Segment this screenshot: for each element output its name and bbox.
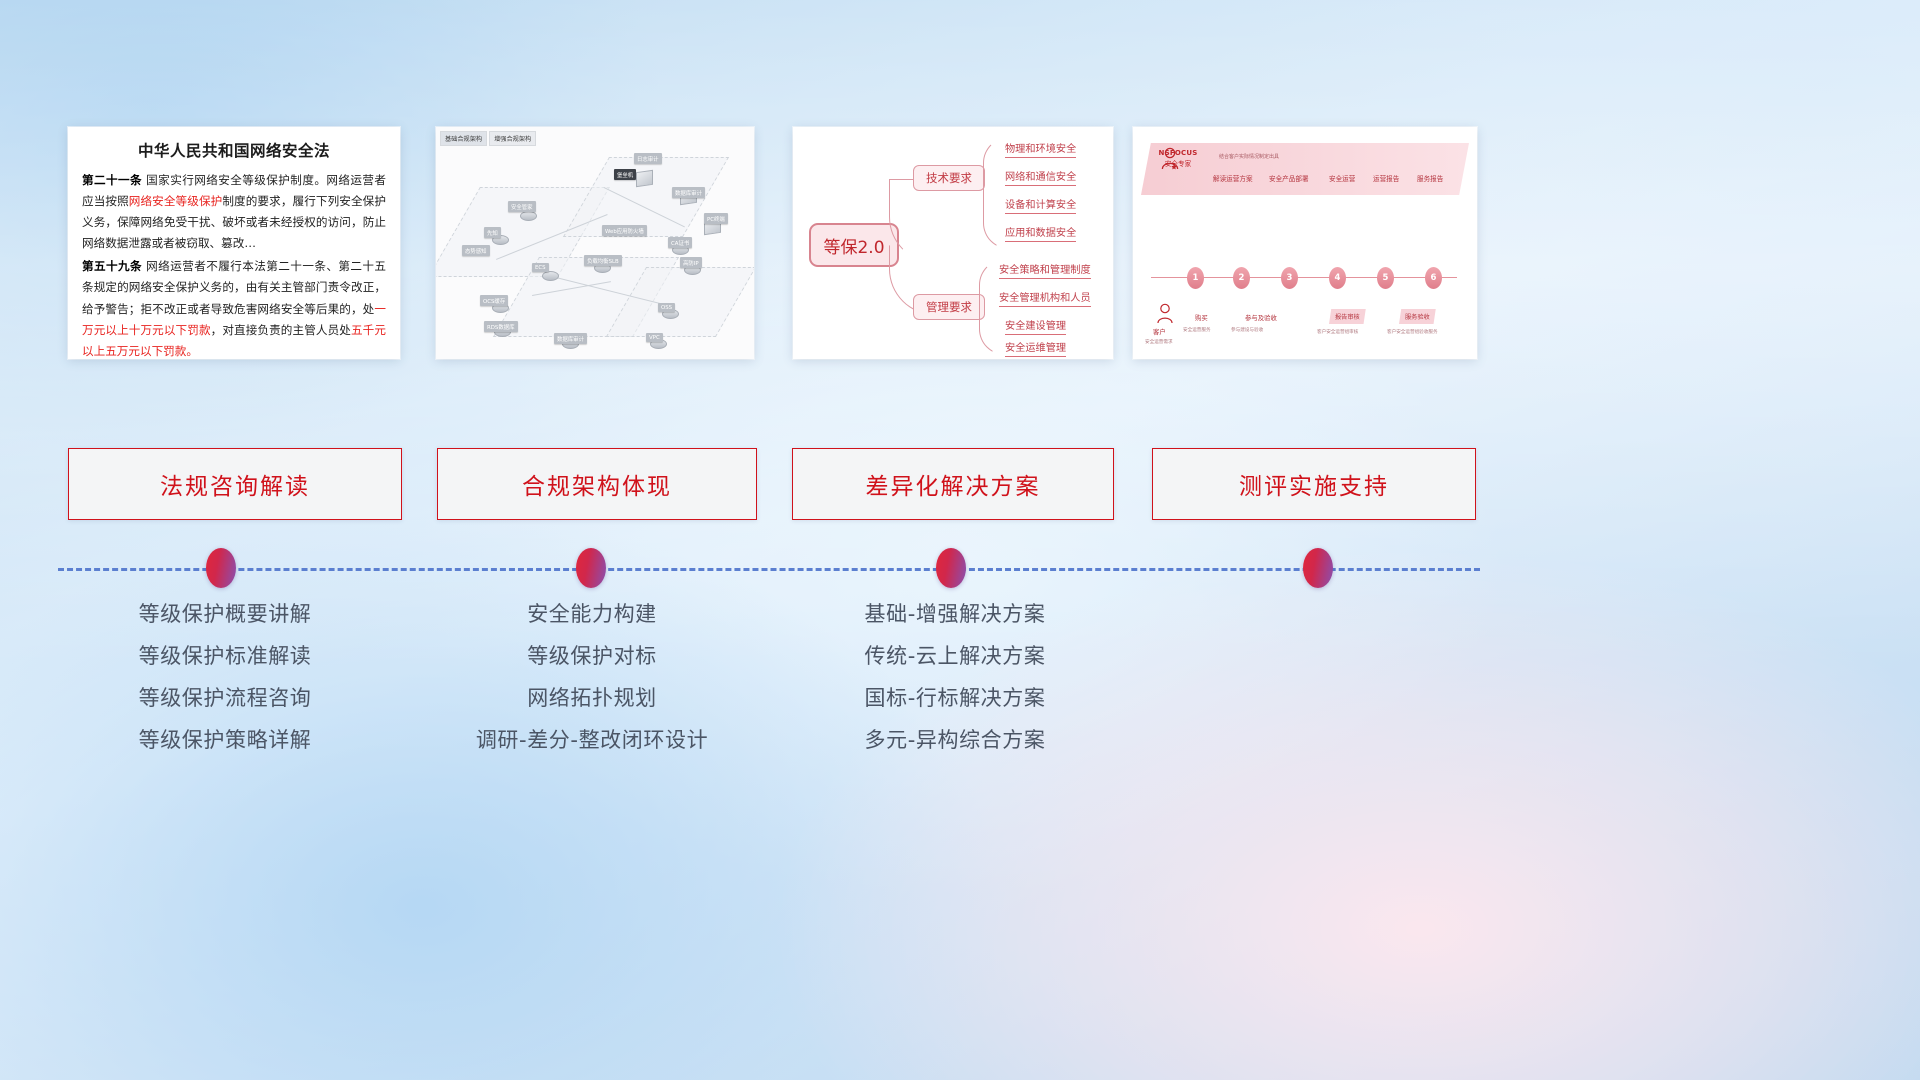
pillar-regulation-consulting[interactable]: 法规咨询解读 bbox=[68, 448, 402, 520]
timeline-node-2[interactable] bbox=[576, 548, 606, 588]
timeline-step: 6 bbox=[1425, 267, 1442, 289]
list-item: 等级保护策略详解 bbox=[58, 730, 392, 751]
mindmap-leaf: 安全建设管理 bbox=[1005, 317, 1066, 335]
card-compliance-architecture[interactable]: 基础合规架构 增强合规架构 bbox=[436, 127, 754, 359]
customer-sublabel: 安全运营需求 bbox=[1145, 339, 1173, 345]
card-mindmap-dengbao[interactable]: 等保2.0 技术要求 管理要求 物理和环境安全 网络和通信安全 设备和计算安全 … bbox=[793, 127, 1113, 359]
timeline-node-4[interactable] bbox=[1303, 548, 1333, 588]
timeline-step: 4 bbox=[1329, 267, 1346, 289]
article-21-highlight: 网络安全等级保护 bbox=[129, 194, 223, 208]
law-article-21: 第二十一条 国家实行网络安全等级保护制度。网络运营者应当按照网络安全等级保护制度… bbox=[82, 170, 386, 254]
expert-subtitle: 安全专家 bbox=[1155, 158, 1201, 168]
pillar-label: 法规咨询解读 bbox=[160, 467, 310, 501]
pillar-label: 测评实施支持 bbox=[1239, 467, 1389, 501]
timeline-caption: 运营报告 bbox=[1373, 173, 1399, 183]
connector-timeline bbox=[0, 548, 1920, 594]
mindmap-root-node: 等保2.0 bbox=[809, 223, 899, 267]
list-item: 等级保护概要讲解 bbox=[58, 604, 392, 625]
list-item: 传统-云上解决方案 bbox=[790, 646, 1120, 667]
timeline-caption: 服务报告 bbox=[1417, 173, 1443, 183]
tab-basic-architecture[interactable]: 基础合规架构 bbox=[440, 131, 487, 146]
architecture-node: PC终端 bbox=[704, 213, 728, 224]
architecture-node: 安全管家 bbox=[508, 201, 536, 212]
pillar-compliance-architecture[interactable]: 合规架构体现 bbox=[437, 448, 757, 520]
law-article-59: 第五十九条 网络运营者不履行本法第二十一条、第二十五条规定的网络安全保护义务的，… bbox=[82, 256, 386, 359]
mindmap-leaf: 网络和通信安全 bbox=[1005, 168, 1076, 186]
architecture-node: 负载均衡SLB bbox=[584, 255, 622, 266]
architecture-node: RDS数据库 bbox=[484, 321, 518, 332]
timeline-step: 5 bbox=[1377, 267, 1394, 289]
list-item: 多元-异构综合方案 bbox=[790, 730, 1120, 751]
architecture-node: 先知 bbox=[484, 227, 501, 238]
mindmap-branch-technical: 技术要求 bbox=[913, 165, 985, 191]
architecture-node: OCS缓存 bbox=[480, 295, 508, 306]
mindmap-leaf: 安全运维管理 bbox=[1005, 339, 1066, 357]
pillar-label: 合规架构体现 bbox=[522, 467, 672, 501]
cards-row: 中华人民共和国网络安全法 第二十一条 国家实行网络安全等级保护制度。网络运营者应… bbox=[0, 127, 1920, 359]
list-item: 调研-差分-整改闭环设计 bbox=[420, 730, 764, 751]
architecture-node: 日志审计 bbox=[634, 153, 662, 164]
pillar-differentiated-solution[interactable]: 差异化解决方案 bbox=[792, 448, 1114, 520]
architecture-node: Web应用防火墙 bbox=[602, 225, 647, 236]
timeline-caption: 安全产品部署 bbox=[1269, 173, 1309, 183]
architecture-node: ECS bbox=[532, 263, 549, 272]
list-item: 等级保护标准解读 bbox=[58, 646, 392, 667]
mindmap-leaf: 安全管理机构和人员 bbox=[999, 289, 1091, 307]
service-timeline: NSFOCUS 安全专家 结合客户实际情况制定出具 解读运营方案 安全产品部署 … bbox=[1133, 127, 1477, 359]
footer-item-sub: 参与建设与验收 bbox=[1231, 327, 1263, 333]
mindmap-leaf: 应用和数据安全 bbox=[1005, 224, 1076, 242]
mindmap-branch-management: 管理要求 bbox=[913, 294, 985, 320]
architecture-tabs[interactable]: 基础合规架构 增强合规架构 bbox=[440, 131, 536, 146]
footer-tag: 服务验收 bbox=[1399, 309, 1436, 324]
terminal-icon bbox=[636, 170, 653, 187]
timeline-step: 2 bbox=[1233, 267, 1250, 289]
detail-list-regulation: 等级保护概要讲解 等级保护标准解读 等级保护流程咨询 等级保护策略详解 bbox=[58, 604, 392, 772]
mindmap-leaf: 物理和环境安全 bbox=[1005, 140, 1076, 158]
mindmap-leaf: 设备和计算安全 bbox=[1005, 196, 1076, 214]
architecture-node: OSS bbox=[658, 303, 675, 312]
article-59-mid: ，对直接负责的主管人员处 bbox=[211, 323, 351, 337]
article-21-label: 第二十一条 bbox=[82, 173, 142, 187]
list-item: 国标-行标解决方案 bbox=[790, 688, 1120, 709]
detail-list-solution: 基础-增强解决方案 传统-云上解决方案 国标-行标解决方案 多元-异构综合方案 bbox=[790, 604, 1120, 772]
timeline-caption: 安全运营 bbox=[1329, 173, 1355, 183]
pillar-label: 差异化解决方案 bbox=[866, 467, 1041, 501]
expert-badge: NSFOCUS 安全专家 bbox=[1155, 149, 1201, 168]
timeline-step: 1 bbox=[1187, 267, 1204, 289]
mindmap-curve bbox=[983, 137, 1009, 249]
architecture-node: 堡垒机 bbox=[614, 169, 636, 180]
customer-label: 客户 bbox=[1153, 327, 1166, 336]
law-title: 中华人民共和国网络安全法 bbox=[82, 139, 386, 161]
timeline-step: 3 bbox=[1281, 267, 1298, 289]
footer-item-title: 参与及验收 bbox=[1245, 313, 1277, 322]
architecture-node: CA证书 bbox=[668, 237, 692, 248]
architecture-canvas: 态势感知先知安全管家堡垒机数据库审计日志审计ECS负载均衡SLBWeb应用防火墙… bbox=[436, 127, 754, 359]
footer-tag-sub: 客户安全运营组验收服务 bbox=[1387, 329, 1438, 335]
timeline-caption: 解读运营方案 bbox=[1213, 173, 1253, 183]
law-document: 中华人民共和国网络安全法 第二十一条 国家实行网络安全等级保护制度。网络运营者应… bbox=[68, 127, 400, 359]
list-item: 基础-增强解决方案 bbox=[790, 604, 1120, 625]
timeline-node-1[interactable] bbox=[206, 548, 236, 588]
architecture-node: 数据库审计 bbox=[672, 187, 705, 198]
card-cybersecurity-law[interactable]: 中华人民共和国网络安全法 第二十一条 国家实行网络安全等级保护制度。网络运营者应… bbox=[68, 127, 400, 359]
footer-tag: 报告审核 bbox=[1329, 309, 1366, 324]
list-item: 网络拓扑规划 bbox=[420, 688, 764, 709]
timeline-dashed-rule bbox=[58, 568, 1480, 571]
list-item: 等级保护流程咨询 bbox=[58, 688, 392, 709]
list-item: 等级保护对标 bbox=[420, 646, 764, 667]
footer-item-sub: 安全运营服务 bbox=[1183, 327, 1211, 333]
detail-list-architecture: 安全能力构建 等级保护对标 网络拓扑规划 调研-差分-整改闭环设计 bbox=[420, 604, 764, 772]
server-icon bbox=[520, 211, 537, 221]
mindmap-curve bbox=[979, 259, 1005, 355]
article-59-label: 第五十九条 bbox=[82, 259, 142, 273]
pillar-row: 法规咨询解读 合规架构体现 差异化解决方案 测评实施支持 bbox=[0, 448, 1920, 520]
footer-tag-sub: 客户安全运营组审核 bbox=[1317, 329, 1358, 335]
server-icon bbox=[542, 271, 559, 281]
architecture-node: 高防IP bbox=[680, 257, 702, 268]
architecture-node: 态势感知 bbox=[462, 245, 490, 256]
mindmap-leaf: 安全策略和管理制度 bbox=[999, 261, 1091, 279]
architecture-node: 数据库审计 bbox=[554, 333, 587, 344]
card-service-timeline[interactable]: NSFOCUS 安全专家 结合客户实际情况制定出具 解读运营方案 安全产品部署 … bbox=[1133, 127, 1477, 359]
customer-person-icon bbox=[1155, 303, 1175, 325]
architecture-node: VPC bbox=[646, 333, 663, 342]
pillar-assessment-support[interactable]: 测评实施支持 bbox=[1152, 448, 1476, 520]
timeline-top-note: 结合客户实际情况制定出具 bbox=[1219, 153, 1279, 160]
timeline-node-3[interactable] bbox=[936, 548, 966, 588]
footer-item-title: 购买 bbox=[1195, 313, 1208, 322]
expert-name: NSFOCUS bbox=[1155, 149, 1201, 157]
tab-enhanced-architecture[interactable]: 增强合规架构 bbox=[489, 131, 536, 146]
list-item: 安全能力构建 bbox=[420, 604, 764, 625]
architecture-diagram: 基础合规架构 增强合规架构 bbox=[436, 127, 754, 359]
mindmap: 等保2.0 技术要求 管理要求 物理和环境安全 网络和通信安全 设备和计算安全 … bbox=[793, 127, 1113, 359]
